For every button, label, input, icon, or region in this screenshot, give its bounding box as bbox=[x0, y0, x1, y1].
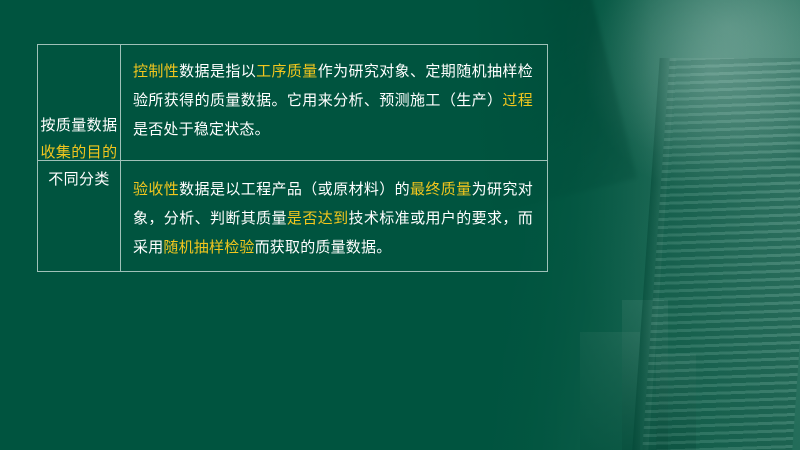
row-label-line-3: 不同分类 bbox=[37, 166, 121, 193]
row-label-line-2: 收集的目的 bbox=[37, 139, 121, 166]
row-label-text: 按质量数据 收集的目的 不同分类 bbox=[37, 112, 121, 193]
body-text: 数据是指以 bbox=[179, 63, 256, 80]
body-text: 而获取的质量数据。 bbox=[255, 239, 392, 256]
highlighted-text: 随机抽样检验 bbox=[163, 239, 254, 256]
highlighted-text: 最终质量 bbox=[410, 181, 472, 198]
control-data-cell: 控制性数据是指以工序质量作为研究对象、定期随机抽样检验所获得的质量数据。它用来分… bbox=[121, 45, 547, 160]
highlighted-text: 验收性 bbox=[133, 181, 179, 198]
body-text: 是否处于稳定状态。 bbox=[133, 121, 270, 138]
acceptance-data-cell: 验收性数据是以工程产品（或原材料）的最终质量为研究对象，分析、判断其质量是否达到… bbox=[121, 161, 547, 271]
highlighted-text: 控制性 bbox=[133, 63, 179, 80]
row-label-line-1: 按质量数据 bbox=[37, 112, 121, 139]
highlighted-text: 是否达到 bbox=[287, 210, 349, 227]
presentation-slide: 控制性数据是指以工序质量作为研究对象、定期随机抽样检验所获得的质量数据。它用来分… bbox=[0, 0, 800, 450]
body-text: 数据是以工程产品（或原材料）的 bbox=[179, 181, 410, 198]
highlighted-text: 工序质量 bbox=[256, 63, 318, 80]
highlighted-text: 过程 bbox=[502, 92, 533, 109]
